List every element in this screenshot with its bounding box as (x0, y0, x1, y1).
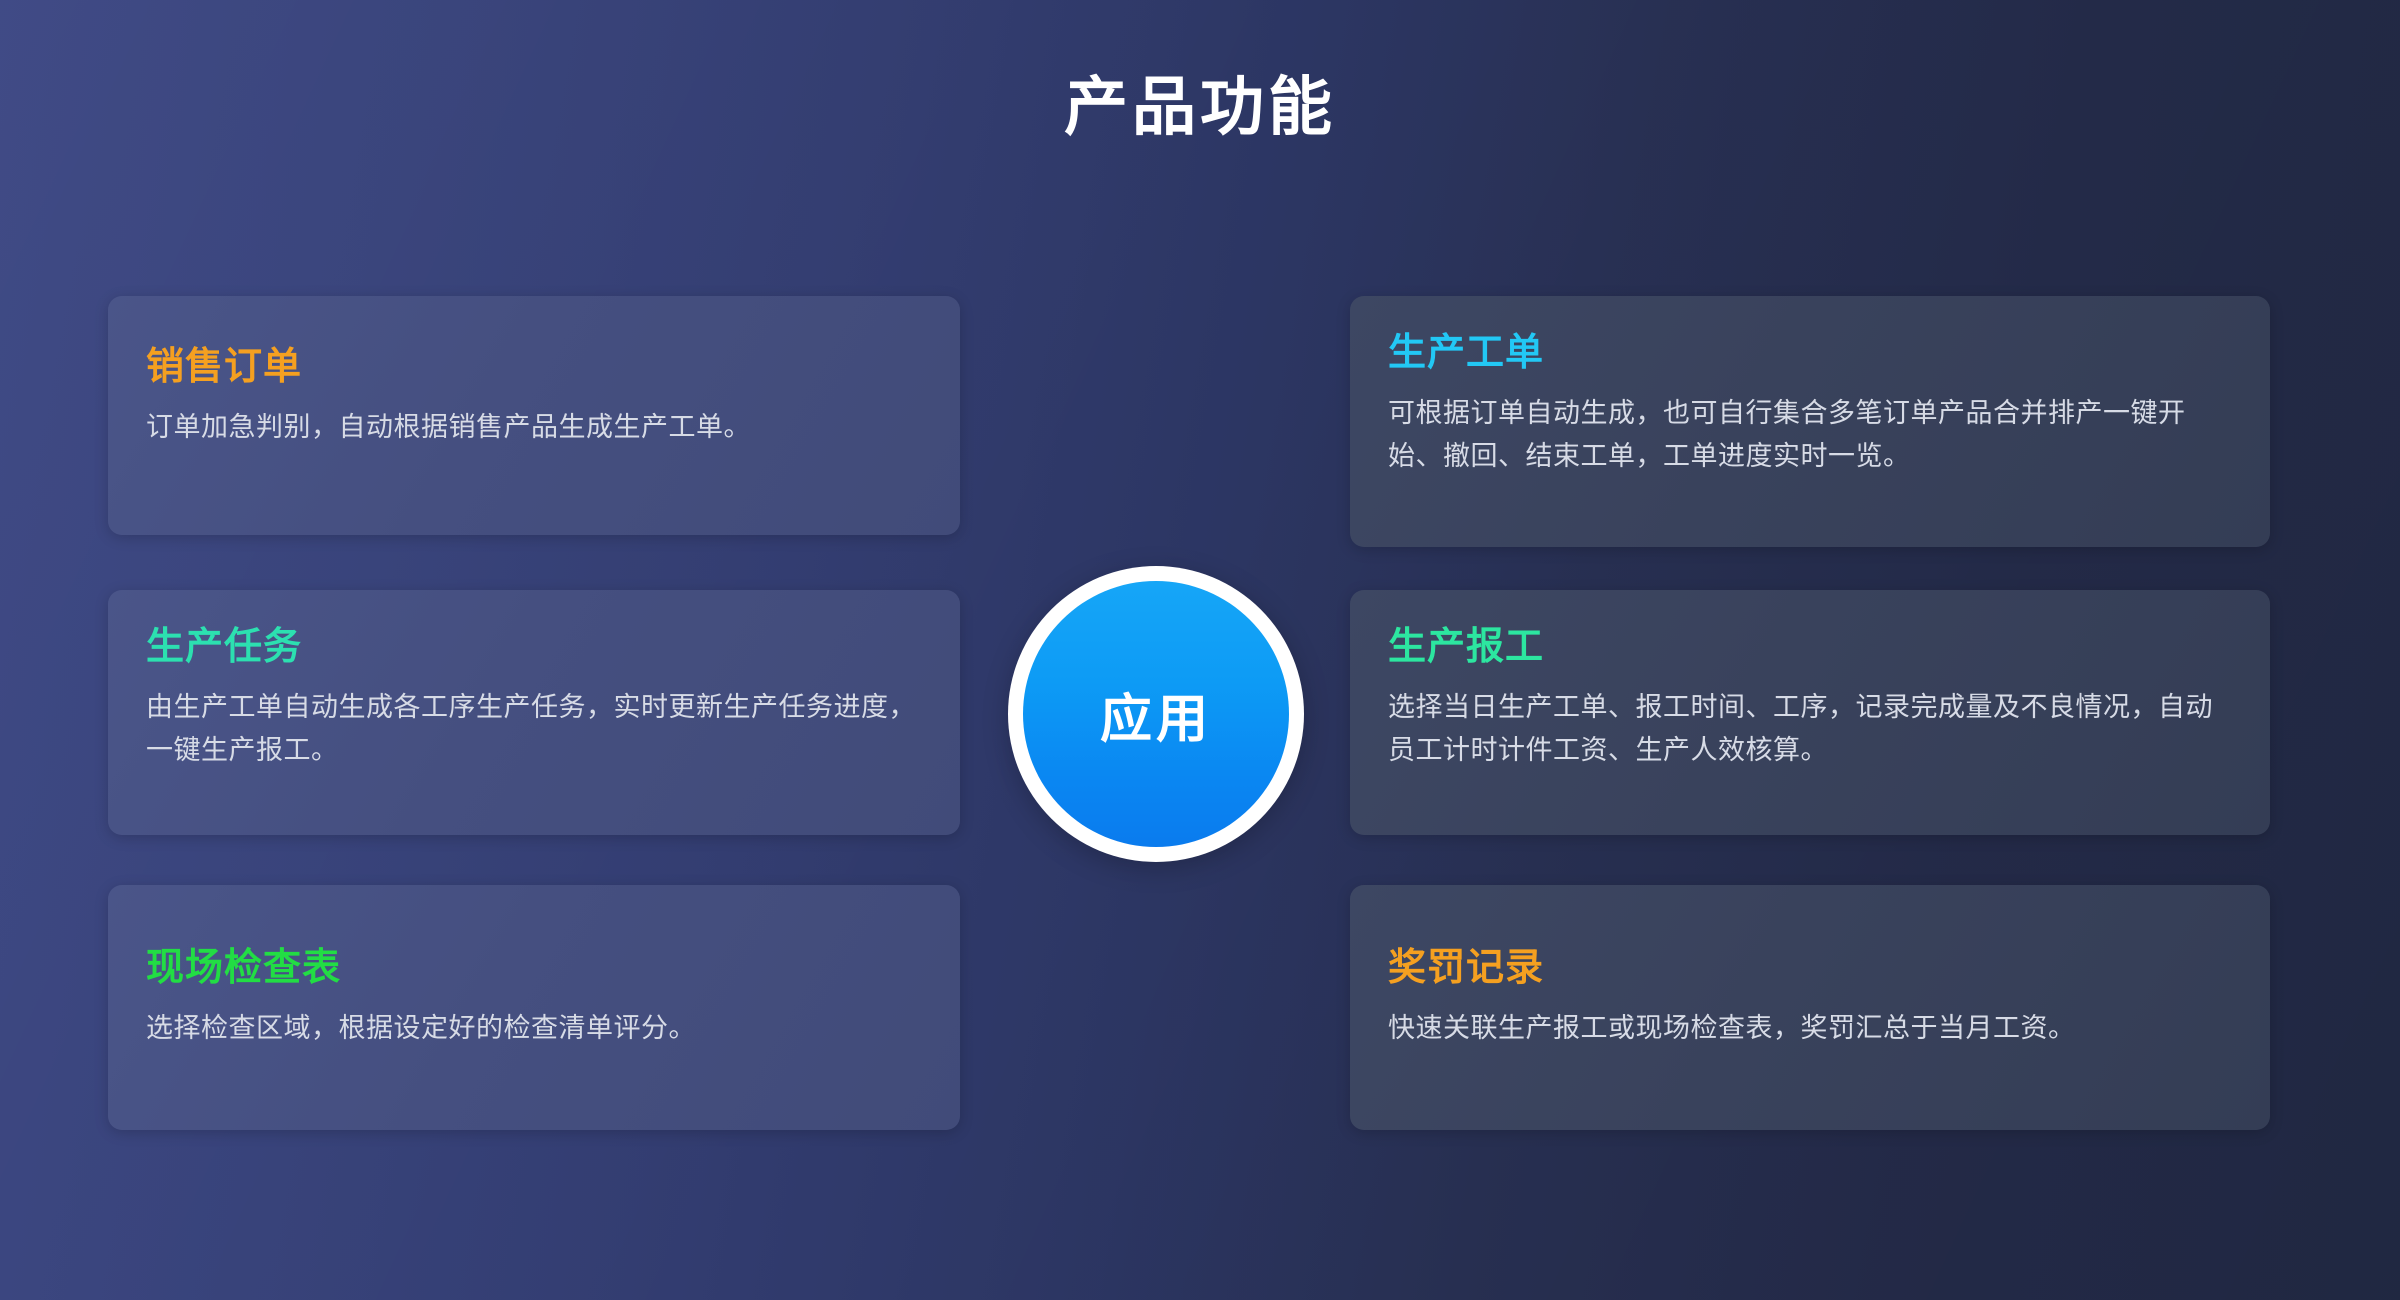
feature-card-description: 由生产工单自动生成各工序生产任务，实时更新生产任务进度，一键生产报工。 (146, 686, 922, 773)
center-badge-circle: 应用 (1023, 581, 1289, 847)
product-features-slide: 产品功能 销售订单 订单加急判别，自动根据销售产品生成生产工单。 生产任务 由生… (0, 0, 2400, 1300)
center-badge-label: 应用 (1100, 677, 1212, 752)
feature-card-production-task[interactable]: 生产任务 由生产工单自动生成各工序生产任务，实时更新生产任务进度，一键生产报工。 (108, 590, 960, 835)
feature-card-title: 生产任务 (146, 624, 922, 672)
feature-card-reward-penalty[interactable]: 奖罚记录 快速关联生产报工或现场检查表，奖罚汇总于当月工资。 (1350, 885, 2270, 1130)
page-title: 产品功能 (0, 72, 2400, 142)
feature-card-site-checklist[interactable]: 现场检查表 选择检查区域，根据设定好的检查清单评分。 (108, 885, 960, 1130)
feature-card-title: 生产工单 (1388, 330, 2232, 378)
feature-card-title: 生产报工 (1388, 624, 2232, 672)
center-application-badge[interactable]: 应用 (1008, 566, 1304, 862)
feature-card-description: 订单加急判别，自动根据销售产品生成生产工单。 (146, 406, 922, 450)
feature-card-description: 选择检查区域，根据设定好的检查清单评分。 (146, 1007, 922, 1051)
feature-card-description: 选择当日生产工单、报工时间、工序，记录完成量及不良情况，自动员工计时计件工资、生… (1388, 686, 2232, 773)
feature-card-production-report[interactable]: 生产报工 选择当日生产工单、报工时间、工序，记录完成量及不良情况，自动员工计时计… (1350, 590, 2270, 835)
feature-card-description: 可根据订单自动生成，也可自行集合多笔订单产品合并排产一键开始、撤回、结束工单，工… (1388, 392, 2232, 479)
feature-card-title: 奖罚记录 (1388, 945, 2232, 993)
feature-card-title: 现场检查表 (146, 945, 922, 993)
feature-card-sales-order[interactable]: 销售订单 订单加急判别，自动根据销售产品生成生产工单。 (108, 296, 960, 535)
feature-card-description: 快速关联生产报工或现场检查表，奖罚汇总于当月工资。 (1388, 1007, 2232, 1051)
feature-card-work-order[interactable]: 生产工单 可根据订单自动生成，也可自行集合多笔订单产品合并排产一键开始、撤回、结… (1350, 296, 2270, 547)
feature-card-title: 销售订单 (146, 344, 922, 392)
